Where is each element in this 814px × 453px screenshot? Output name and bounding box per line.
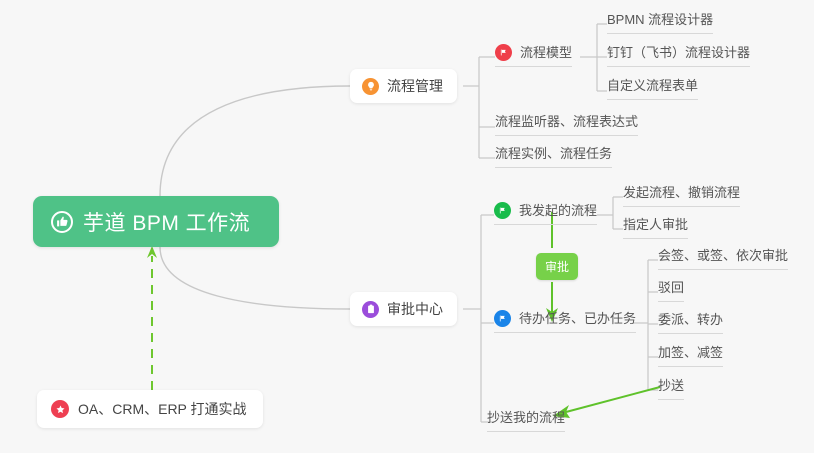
node-reject[interactable]: 驳回 — [658, 279, 684, 302]
flag-icon — [494, 310, 511, 327]
thumbs-up-icon — [51, 211, 73, 233]
node-add-remove-sign[interactable]: 加签、减签 — [658, 344, 723, 367]
node-process-model-label: 流程模型 — [520, 44, 572, 61]
mindmap-canvas: 芋道 BPM 工作流 流程管理 审批中心 流程模型 — [0, 0, 814, 453]
node-approval-center-label: 审批中心 — [387, 299, 443, 319]
node-custom-process-form[interactable]: 自定义流程表单 — [607, 77, 698, 100]
node-designated-approver[interactable]: 指定人审批 — [623, 216, 688, 239]
root-label: 芋道 BPM 工作流 — [83, 207, 250, 237]
node-delegate-transfer[interactable]: 委派、转办 — [658, 311, 723, 334]
flag-icon — [494, 202, 511, 219]
node-countersign-orsign-sequential[interactable]: 会签、或签、依次审批 — [658, 247, 788, 270]
node-cc[interactable]: 抄送 — [658, 377, 684, 400]
lightbulb-icon — [362, 78, 379, 95]
node-process-management[interactable]: 流程管理 — [350, 69, 457, 103]
clipboard-icon — [362, 301, 379, 318]
node-dingtalk-feishu-designer[interactable]: 钉钉（飞书）流程设计器 — [607, 44, 750, 67]
node-process-instance[interactable]: 流程实例、流程任务 — [495, 145, 612, 168]
node-start-cancel-process[interactable]: 发起流程、撤销流程 — [623, 184, 740, 207]
node-my-started-process-label: 我发起的流程 — [519, 202, 597, 219]
node-todo-done-tasks[interactable]: 待办任务、已办任务 — [494, 310, 636, 333]
node-process-listener[interactable]: 流程监听器、流程表达式 — [495, 113, 638, 136]
node-my-started-process[interactable]: 我发起的流程 — [494, 202, 597, 225]
node-todo-done-tasks-label: 待办任务、已办任务 — [519, 310, 636, 327]
node-process-management-label: 流程管理 — [387, 76, 443, 96]
tag-approval[interactable]: 审批 — [536, 253, 578, 280]
node-integration-practice[interactable]: OA、CRM、ERP 打通实战 — [37, 390, 263, 428]
node-bpmn-designer[interactable]: BPMN 流程设计器 — [607, 11, 713, 34]
arrowhead-callout-to-root — [147, 246, 157, 258]
flag-icon — [495, 44, 512, 61]
edge-cc-to-cc-my-process — [566, 387, 660, 412]
edge-root-to-process-management — [160, 86, 350, 196]
edge-root-to-approval-center — [160, 247, 350, 309]
node-integration-practice-label: OA、CRM、ERP 打通实战 — [78, 399, 247, 419]
star-icon — [51, 400, 69, 418]
node-approval-center[interactable]: 审批中心 — [350, 292, 457, 326]
root-node[interactable]: 芋道 BPM 工作流 — [33, 196, 279, 247]
node-cc-to-me-process[interactable]: 抄送我的流程 — [487, 409, 565, 432]
node-process-model[interactable]: 流程模型 — [495, 44, 572, 67]
